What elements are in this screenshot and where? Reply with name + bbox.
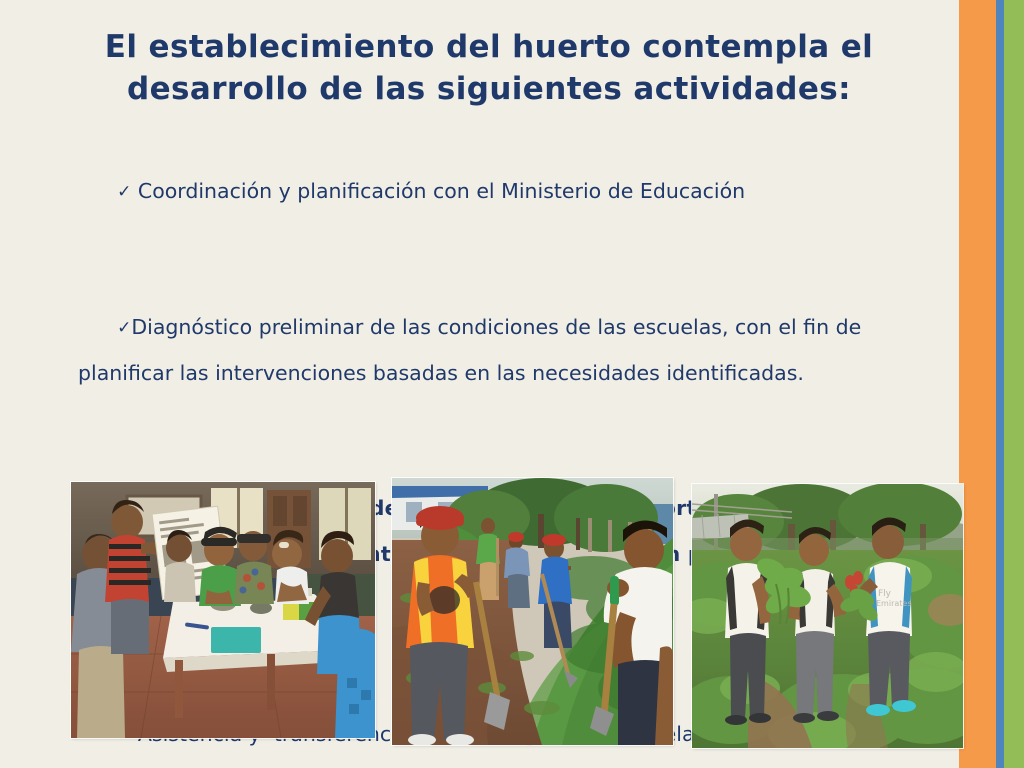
photo-garden-work [392, 478, 673, 745]
green-accent-stripe [1004, 0, 1024, 768]
check-icon: ✓ [117, 318, 131, 338]
slide-title: El establecimiento del huerto contempla … [40, 26, 938, 110]
orange-accent-stripe [959, 0, 996, 768]
blue-accent-stripe [996, 0, 1004, 768]
list-item-text: Coordinación y planificación con el Mini… [131, 179, 745, 203]
list-item-text: Diagnóstico preliminar de las condicione… [78, 315, 868, 385]
list-item: ✓Diagnóstico preliminar de las condicion… [78, 260, 938, 441]
photo-harvest: Fly Emirates [692, 484, 963, 748]
list-item: ✓ Coordinación y planificación con el Mi… [78, 124, 938, 260]
check-icon: ✓ [117, 182, 131, 202]
presentation-slide: El establecimiento del huerto contempla … [0, 0, 1024, 768]
photo-classroom: AG [71, 482, 375, 738]
